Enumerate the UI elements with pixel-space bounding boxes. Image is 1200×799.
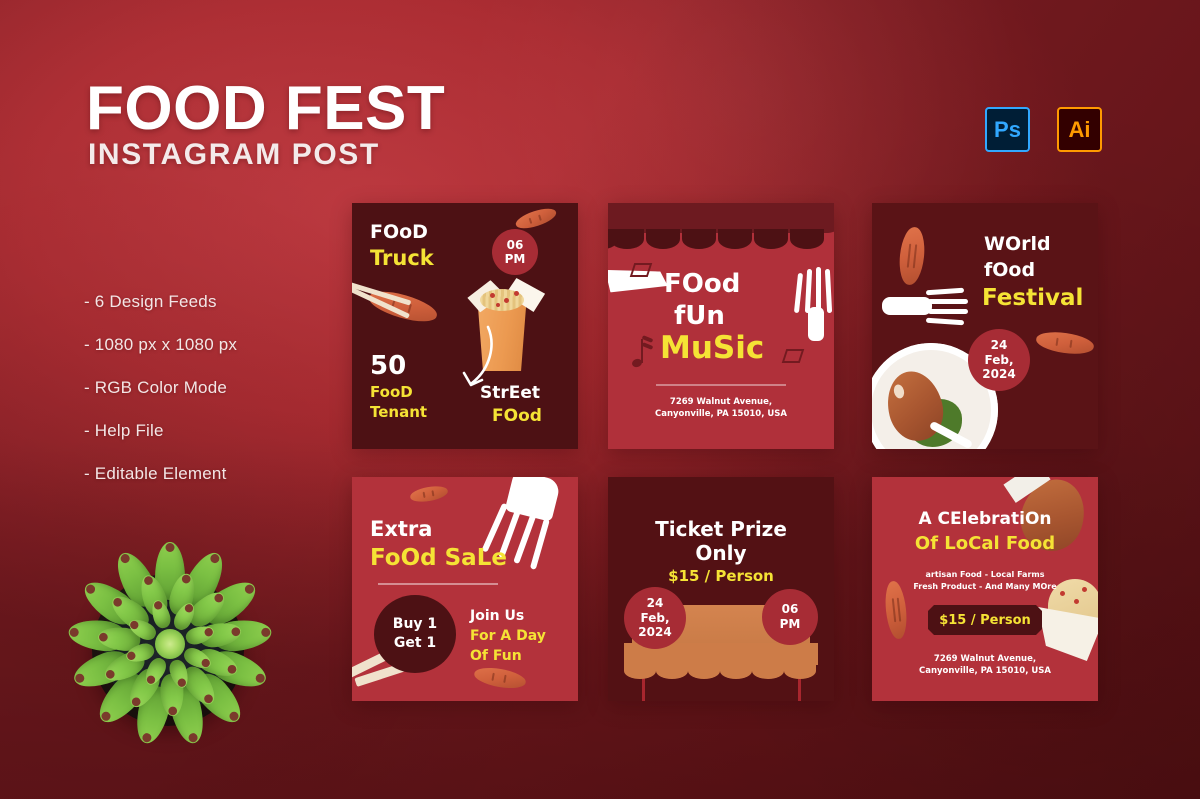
- music-note-icon: [784, 345, 806, 367]
- succulent-plant-photo: [84, 558, 256, 730]
- sausage-icon: [409, 484, 449, 504]
- sausage-icon: [897, 226, 927, 286]
- card1-line-food2: FooD: [370, 385, 413, 400]
- fork-icon: [466, 477, 578, 589]
- stall-pole: [642, 677, 645, 701]
- music-note-icon: [632, 337, 658, 371]
- card4-line-extra: Extra: [370, 519, 432, 540]
- card3-date-line1: 24: [991, 338, 1008, 352]
- card5-line-price: $15 / Person: [608, 569, 834, 584]
- card1-time-badge: 06 PM: [492, 229, 538, 275]
- photoshop-badge: Ps: [985, 107, 1030, 152]
- card1-time-line2: PM: [505, 252, 526, 266]
- card6-line-celebration: A CElebratiOn: [872, 511, 1098, 528]
- card6-price-plaque: $15 / Person: [928, 605, 1042, 635]
- card4-offer-badge: Buy 1 Get 1: [374, 595, 456, 673]
- page-subtitle: INSTAGRAM POST: [88, 140, 380, 170]
- card5-date-line1: 24: [647, 596, 664, 610]
- card4-line-joinus: Join Us: [470, 609, 524, 623]
- card6-address-line1: 7269 Walnut Avenue,: [872, 653, 1098, 665]
- card5-line-only: Only: [608, 543, 834, 563]
- card-food-truck[interactable]: FOoD Truck 06 PM 50 FooD: [352, 203, 578, 449]
- page-title: FOOD FEST: [86, 78, 445, 140]
- card-extra-food-sale[interactable]: Extra FoOd SaLe Buy 1 Get 1 Join Us For …: [352, 477, 578, 701]
- plant-center: [155, 629, 185, 659]
- feature-item: - 1080 px x 1080 px: [84, 335, 334, 355]
- card-food-fun-music[interactable]: FOod fUn MuSic 7269 Walnut Avenue, Canyo…: [608, 203, 834, 449]
- card3-line-food: fOod: [984, 261, 1035, 280]
- fork-icon: [794, 267, 834, 341]
- feature-item: - Editable Element: [84, 464, 334, 484]
- fork-icon: [882, 287, 968, 327]
- card-world-food-festival[interactable]: WOrld fOod Festival 24 Feb, 2024: [872, 203, 1098, 449]
- card2-line-food: FOod: [664, 271, 740, 298]
- card2-address-line1: 7269 Walnut Avenue,: [608, 396, 834, 408]
- illustrator-badge: Ai: [1057, 107, 1102, 152]
- card3-line-world: WOrld: [984, 235, 1051, 254]
- stall-pole: [798, 677, 801, 701]
- card1-line-food: FOoD: [370, 223, 428, 242]
- card3-date-badge: 24 Feb, 2024: [968, 329, 1030, 391]
- sausage-icon: [514, 205, 559, 232]
- feature-item: - Help File: [84, 421, 334, 441]
- stall-scallops: [624, 663, 818, 679]
- card2-address-line2: Canyonville, PA 15010, USA: [608, 408, 834, 420]
- card1-line-street: StrEet: [480, 385, 540, 402]
- card2-line-music: MuSic: [660, 333, 764, 365]
- card6-tagline-line1: artisan Food - Local Farms: [872, 569, 1098, 581]
- card1-line-truck: Truck: [370, 248, 434, 269]
- card5-time-line2: PM: [780, 617, 801, 632]
- card4-line-foraday: For A Day: [470, 629, 546, 643]
- card4-offer-line1: Buy 1: [393, 615, 437, 634]
- card5-date-line3: 2024: [638, 625, 671, 639]
- card6-address-line2: Canyonville, PA 15010, USA: [872, 665, 1098, 677]
- card4-divider: [378, 583, 498, 585]
- card1-line-50: 50: [370, 353, 406, 380]
- card1-line-food3: FOod: [492, 408, 542, 425]
- card1-time-line1: 06: [507, 238, 524, 252]
- card-ticket-prize[interactable]: Ticket Prize Only $15 / Person 24 Feb, 2…: [608, 477, 834, 701]
- card6-line-localfood: Of LoCal Food: [872, 535, 1098, 553]
- feature-item: - RGB Color Mode: [84, 378, 334, 398]
- card5-time-badge: 06 PM: [762, 589, 818, 645]
- poster-stage: FOOD FEST INSTAGRAM POST Ps Ai - 6 Desig…: [0, 0, 1200, 799]
- music-note-icon: [632, 259, 654, 281]
- card4-offer-line2: Get 1: [394, 634, 436, 653]
- card6-tagline-line2: Fresh Product - And Many MOre: [872, 581, 1098, 593]
- card5-date-line2: Feb,: [641, 611, 670, 625]
- card4-line-offun: Of Fun: [470, 649, 522, 663]
- card-celebration-local-food[interactable]: A CElebratiOn Of LoCal Food artisan Food…: [872, 477, 1098, 701]
- card3-date-line3: 2024: [982, 367, 1015, 381]
- card5-line-ticket: Ticket Prize: [608, 519, 834, 539]
- feature-item: - 6 Design Feeds: [84, 292, 334, 312]
- card3-date-line2: Feb,: [985, 353, 1014, 367]
- card6-tagline: artisan Food - Local Farms Fresh Product…: [872, 569, 1098, 592]
- sausage-icon: [473, 665, 527, 692]
- card6-address: 7269 Walnut Avenue, Canyonville, PA 1501…: [872, 653, 1098, 678]
- card2-divider: [656, 384, 786, 386]
- card2-address: 7269 Walnut Avenue, Canyonville, PA 1501…: [608, 396, 834, 421]
- card2-line-fun: fUn: [674, 303, 725, 330]
- card4-line-foodsale: FoOd SaLe: [370, 547, 507, 570]
- card6-price-text: $15 / Person: [939, 613, 1031, 628]
- card5-date-badge: 24 Feb, 2024: [624, 587, 686, 649]
- card5-time-line1: 06: [782, 602, 799, 617]
- card3-line-festival: Festival: [982, 287, 1083, 310]
- feature-list: - 6 Design Feeds - 1080 px x 1080 px - R…: [84, 292, 334, 507]
- card1-line-tenant: Tenant: [370, 405, 427, 420]
- sausage-icon: [1035, 329, 1095, 357]
